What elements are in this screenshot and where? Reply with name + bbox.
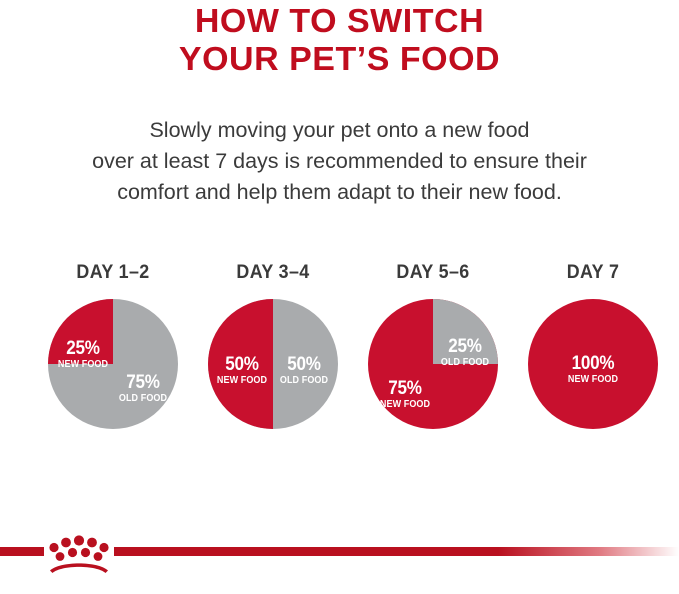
footer-rule-right [114,547,679,556]
pie-step-day-1-2: DAY 1–2 25% NEW FOOD 75% OLD FOOD [33,262,193,432]
day-label-3: DAY 7 [518,262,668,284]
footer [0,534,679,594]
pie-slice-new-food-1 [208,299,273,429]
page-title-line-2: YOUR PET’S FOOD [0,40,679,78]
footer-rule-left [0,547,44,556]
day-label-0: DAY 1–2 [38,262,188,284]
pie-chart-2: 25% OLD FOOD 75% NEW FOOD [368,299,498,429]
pie-slice-old-food-2 [433,299,498,364]
subtitle-paragraph: Slowly moving your pet onto a new food o… [0,115,679,208]
pie-svg-0 [48,299,178,429]
pie-step-day-7: DAY 7 100% NEW FOOD [513,262,673,432]
infographic-page: { "title": { "line1": "HOW TO SWITCH", "… [0,0,679,594]
pie-chart-3: 100% NEW FOOD [528,299,658,429]
pie-svg-3 [528,299,658,429]
day-label-2: DAY 5–6 [358,262,508,284]
subtitle-line-2: over at least 7 days is recommended to e… [0,146,679,177]
page-title-line-1: HOW TO SWITCH [0,2,679,40]
page-title: HOW TO SWITCH YOUR PET’S FOOD [0,2,679,78]
royal-canin-crown-logo [44,530,114,574]
pie-svg-1 [208,299,338,429]
pie-slice-new-food-0 [48,299,113,364]
day-label-1: DAY 3–4 [198,262,348,284]
pie-chart-1: 50% NEW FOOD 50% OLD FOOD [208,299,338,429]
pie-step-day-3-4: DAY 3–4 50% NEW FOOD 50% OLD FOOD [193,262,353,432]
pie-svg-2 [368,299,498,429]
pie-step-day-5-6: DAY 5–6 25% OLD FOOD 75% NEW FOOD [353,262,513,432]
subtitle-line-3: comfort and help them adapt to their new… [0,177,679,208]
subtitle-line-1: Slowly moving your pet onto a new food [0,115,679,146]
pie-chart-0: 25% NEW FOOD 75% OLD FOOD [48,299,178,429]
pie-slice-new-food-3 [528,299,658,429]
pie-chart-row: DAY 1–2 25% NEW FOOD 75% OLD FOOD DAY 3–… [0,262,679,432]
